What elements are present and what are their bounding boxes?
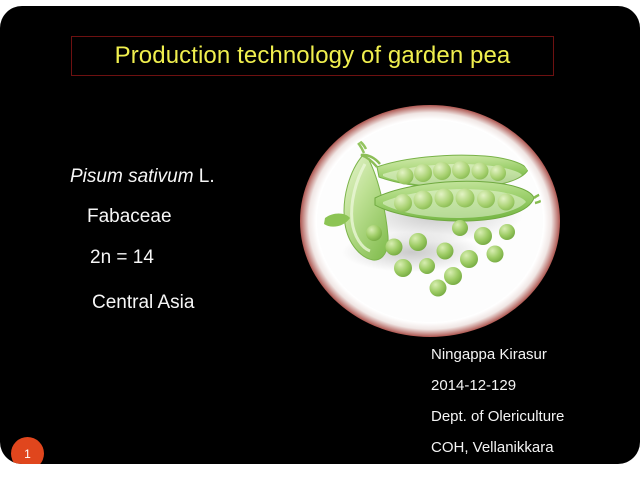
pea-photo-content <box>317 120 543 322</box>
origin-line: Central Asia <box>92 292 194 314</box>
author-name: Ningappa Kirasur <box>431 346 547 364</box>
slide-title-box: Production technology of garden pea <box>71 36 554 76</box>
chromosome-number-line: 2n = 14 <box>90 247 154 269</box>
slide-number-badge: 1 <box>11 437 44 464</box>
species-scientific-name: Pisum sativum <box>70 166 194 187</box>
author-department: Dept. of Olericulture <box>431 408 564 426</box>
species-authority: L. <box>194 166 215 187</box>
species-line: Pisum sativum L. <box>70 166 215 188</box>
author-institution: COH, Vellanikkara <box>431 439 554 457</box>
slide-number-value: 1 <box>24 448 31 460</box>
slide-canvas: Production technology of garden pea Pisu… <box>0 0 640 480</box>
pea-image <box>300 105 560 337</box>
family-line: Fabaceae <box>87 206 172 228</box>
author-id: 2014-12-129 <box>431 377 516 395</box>
presentation-slide: Production technology of garden pea Pisu… <box>0 6 640 464</box>
page-title: Production technology of garden pea <box>115 43 511 69</box>
